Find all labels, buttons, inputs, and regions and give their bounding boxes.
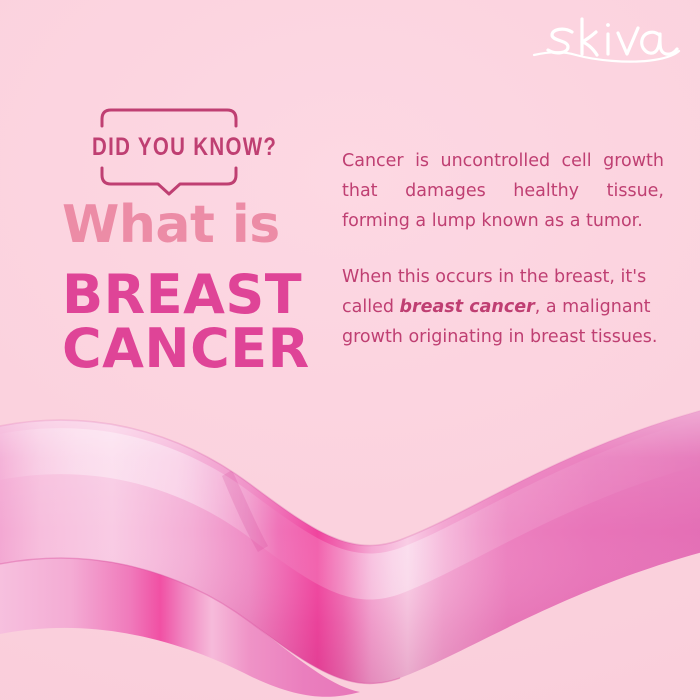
pink-satin-ribbon-wave (0, 400, 700, 700)
headline-line-breast: BREAST (62, 268, 322, 322)
body-paragraph-2-emphasis: breast cancer (400, 297, 535, 317)
headline-line-cancer: CANCER (62, 322, 322, 376)
headline-line-what-is: What is (62, 196, 322, 254)
poster-canvas: skiva DID YOU KNOW? What is BREAST CANCE… (0, 0, 700, 700)
ribbon-band (0, 408, 700, 684)
body-paragraph-2: When this occurs in the breast, it's cal… (342, 262, 664, 352)
body-paragraph-1: Cancer is uncontrolled cell growth that … (342, 146, 664, 236)
body-copy: Cancer is uncontrolled cell growth that … (342, 146, 664, 352)
did-you-know-callout: DID YOU KNOW? (74, 104, 274, 196)
did-you-know-label: DID YOU KNOW? (92, 133, 256, 162)
headline-main: BREAST CANCER (62, 268, 322, 376)
brand-logo[interactable]: skiva (532, 14, 682, 70)
headline-block: What is BREAST CANCER (62, 196, 322, 376)
